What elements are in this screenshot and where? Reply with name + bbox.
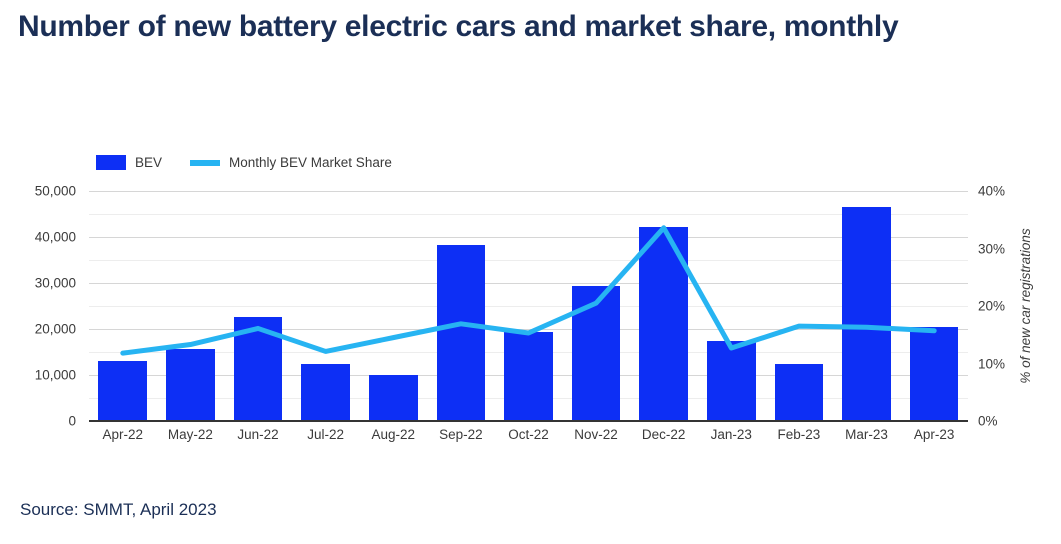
legend-item-market-share-label: Monthly BEV Market Share bbox=[229, 155, 392, 170]
line-series bbox=[89, 191, 968, 421]
x-axis-tick-apr-22: Apr-22 bbox=[89, 427, 157, 442]
y-axis-left-tick: 40,000 bbox=[0, 230, 76, 245]
legend-item-market-share[interactable]: Monthly BEV Market Share bbox=[190, 155, 392, 170]
y-axis-left-tick: 20,000 bbox=[0, 322, 76, 337]
x-axis-tick-apr-23: Apr-23 bbox=[900, 427, 968, 442]
y-axis-left-tick: 10,000 bbox=[0, 368, 76, 383]
chart-legend: BEV Monthly BEV Market Share bbox=[96, 155, 392, 170]
plot-area bbox=[89, 191, 968, 421]
x-axis-tick-may-22: May-22 bbox=[157, 427, 225, 442]
x-axis-tick-aug-22: Aug-22 bbox=[359, 427, 427, 442]
legend-item-bev-label: BEV bbox=[135, 155, 162, 170]
x-axis-tick-sep-22: Sep-22 bbox=[427, 427, 495, 442]
y-axis-left-tick: 0 bbox=[0, 414, 76, 429]
x-axis-tick-nov-22: Nov-22 bbox=[562, 427, 630, 442]
x-axis-tick-dec-22: Dec-22 bbox=[630, 427, 698, 442]
x-axis-tick-jul-22: Jul-22 bbox=[292, 427, 360, 442]
y-axis-left-tick: 30,000 bbox=[0, 276, 76, 291]
x-axis-tick-jan-23: Jan-23 bbox=[697, 427, 765, 442]
page-title: Number of new battery electric cars and … bbox=[18, 8, 1043, 46]
y-axis-right-title: % of new car registrations bbox=[1018, 190, 1033, 422]
x-axis-tick-oct-22: Oct-22 bbox=[495, 427, 563, 442]
x-axis-tick-mar-23: Mar-23 bbox=[833, 427, 901, 442]
x-axis-baseline bbox=[89, 420, 968, 422]
legend-item-bev[interactable]: BEV bbox=[96, 155, 162, 170]
market-share-line[interactable] bbox=[123, 228, 934, 353]
source-note: Source: SMMT, April 2023 bbox=[20, 500, 217, 520]
y-axis-left: 50,00040,00030,00020,00010,0000 bbox=[0, 181, 76, 431]
x-axis-labels: Apr-22May-22Jun-22Jul-22Aug-22Sep-22Oct-… bbox=[89, 427, 968, 442]
bar-swatch-icon bbox=[96, 155, 126, 170]
y-axis-left-tick: 50,000 bbox=[0, 184, 76, 199]
x-axis-tick-jun-22: Jun-22 bbox=[224, 427, 292, 442]
x-axis-tick-feb-23: Feb-23 bbox=[765, 427, 833, 442]
line-swatch-icon bbox=[190, 160, 220, 166]
